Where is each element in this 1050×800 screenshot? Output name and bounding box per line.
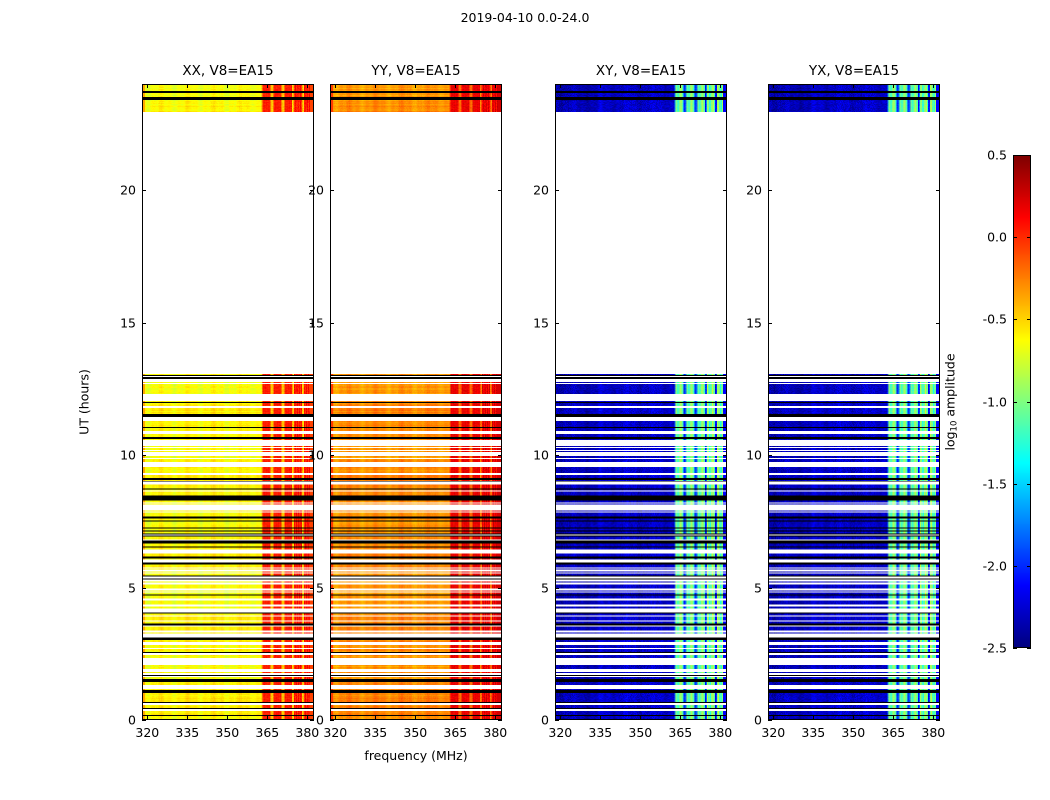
y-tick-right (936, 190, 940, 191)
x-tick-top (813, 84, 814, 88)
x-tick (375, 716, 376, 720)
colorbar-tick (1013, 237, 1017, 238)
colorbar-tick-right (1027, 484, 1031, 485)
x-tick-top (495, 84, 496, 88)
y-tick (142, 190, 146, 191)
x-tick (680, 716, 681, 720)
y-tick-label: 5 (523, 580, 549, 595)
x-tick-top (307, 84, 308, 88)
y-tick-label: 20 (523, 183, 549, 198)
waterfall-image-xy (556, 85, 726, 719)
y-tick-right (498, 455, 502, 456)
figure-canvas: 2019-04-10 0.0-24.0 XX, V8=EA15320335350… (0, 0, 1050, 800)
colorbar-tick (1013, 648, 1017, 649)
x-tick (455, 716, 456, 720)
x-tick (933, 716, 934, 720)
x-tick-label: 380 (483, 725, 507, 740)
y-tick (768, 588, 772, 589)
x-tick-top (893, 84, 894, 88)
colorbar-label-subscript: 10 (950, 420, 960, 431)
y-tick-label: 15 (110, 315, 136, 330)
x-tick-top (267, 84, 268, 88)
x-tick-top (720, 84, 721, 88)
y-tick-right (936, 455, 940, 456)
x-tick (415, 716, 416, 720)
plot-area-yy (330, 84, 502, 720)
colorbar-tick-right (1027, 155, 1031, 156)
x-tick-label: 335 (363, 725, 387, 740)
y-tick-right (723, 190, 727, 191)
y-tick-right (936, 588, 940, 589)
x-tick (893, 716, 894, 720)
colorbar-tick (1013, 155, 1017, 156)
x-tick-label: 320 (548, 725, 572, 740)
x-tick-top (455, 84, 456, 88)
colorbar-tick (1013, 402, 1017, 403)
x-tick-label: 365 (668, 725, 692, 740)
x-tick (600, 716, 601, 720)
colorbar-tick-label: -2.5 (965, 641, 1007, 656)
x-tick-top (640, 84, 641, 88)
colorbar-label-suffix: amplitude (943, 353, 958, 420)
y-tick-label: 0 (110, 713, 136, 728)
y-axis-label: UT (hours) (77, 369, 92, 435)
colorbar-tick (1013, 566, 1017, 567)
y-tick-right (936, 720, 940, 721)
x-tick (227, 716, 228, 720)
x-tick-top (375, 84, 376, 88)
y-tick-label: 0 (736, 713, 762, 728)
panel-title-yy: YY, V8=EA15 (330, 63, 502, 79)
plot-area-xy (555, 84, 727, 720)
y-tick (555, 588, 559, 589)
y-tick (768, 720, 772, 721)
x-tick (147, 716, 148, 720)
y-tick (142, 323, 146, 324)
y-tick-label: 5 (298, 580, 324, 595)
y-tick-label: 10 (110, 448, 136, 463)
x-tick-top (227, 84, 228, 88)
plot-area-yx (768, 84, 940, 720)
x-tick (267, 716, 268, 720)
y-tick-label: 10 (523, 448, 549, 463)
panel-xx: XX, V8=EA1532033535036538005101520 (142, 84, 314, 720)
y-tick (555, 190, 559, 191)
x-tick-top (560, 84, 561, 88)
y-tick (330, 323, 334, 324)
y-tick-label: 15 (523, 315, 549, 330)
y-tick (330, 720, 334, 721)
x-tick-label: 365 (255, 725, 279, 740)
colorbar-tick-right (1027, 648, 1031, 649)
y-tick-right (723, 588, 727, 589)
panel-title-yx: YX, V8=EA15 (768, 63, 940, 79)
colorbar-tick-right (1027, 237, 1031, 238)
x-tick-label: 335 (801, 725, 825, 740)
y-tick (330, 190, 334, 191)
y-tick (555, 455, 559, 456)
y-tick-label: 15 (736, 315, 762, 330)
x-tick (773, 716, 774, 720)
x-tick (560, 716, 561, 720)
figure-suptitle: 2019-04-10 0.0-24.0 (0, 10, 1050, 25)
x-tick-top (415, 84, 416, 88)
colorbar-tick-right (1027, 402, 1031, 403)
panel-yx: YX, V8=EA1532033535036538005101520 (768, 84, 940, 720)
y-tick-label: 20 (298, 183, 324, 198)
x-tick-label: 365 (881, 725, 905, 740)
x-tick-label: 335 (175, 725, 199, 740)
colorbar-tick-right (1027, 319, 1031, 320)
colorbar-tick-right (1027, 566, 1031, 567)
x-tick (720, 716, 721, 720)
y-tick-right (498, 323, 502, 324)
x-tick-label: 380 (708, 725, 732, 740)
x-tick-top (335, 84, 336, 88)
colorbar-tick-label: 0.0 (965, 230, 1007, 245)
x-tick (813, 716, 814, 720)
colorbar-label-prefix: log (943, 431, 958, 450)
x-tick-top (933, 84, 934, 88)
y-tick-right (936, 323, 940, 324)
x-tick (187, 716, 188, 720)
y-tick-label: 20 (736, 183, 762, 198)
x-axis-label: frequency (MHz) (364, 748, 467, 763)
x-tick-top (773, 84, 774, 88)
waterfall-image-xx (143, 85, 313, 719)
colorbar-tick-label: 0.5 (965, 148, 1007, 163)
y-tick-right (723, 455, 727, 456)
y-tick-label: 20 (110, 183, 136, 198)
x-tick-label: 380 (921, 725, 945, 740)
x-tick-label: 350 (841, 725, 865, 740)
colorbar-tick-label: -0.5 (965, 312, 1007, 327)
x-tick (640, 716, 641, 720)
colorbar-tick-label: -2.0 (965, 558, 1007, 573)
x-tick-top (680, 84, 681, 88)
x-tick-top (187, 84, 188, 88)
panel-yy: YY, V8=EA1532033535036538005101520 (330, 84, 502, 720)
x-tick-top (147, 84, 148, 88)
plot-area-xx (142, 84, 314, 720)
colorbar-label: log10 amplitude (943, 353, 960, 450)
colorbar-tick-label: -1.5 (965, 476, 1007, 491)
y-tick (555, 323, 559, 324)
x-tick-top (853, 84, 854, 88)
y-tick (142, 720, 146, 721)
y-tick-label: 10 (736, 448, 762, 463)
y-tick-label: 0 (523, 713, 549, 728)
y-tick (768, 455, 772, 456)
y-tick-right (723, 720, 727, 721)
y-tick-label: 15 (298, 315, 324, 330)
y-tick-right (498, 720, 502, 721)
waterfall-image-yx (769, 85, 939, 719)
y-tick-right (498, 588, 502, 589)
x-tick-top (600, 84, 601, 88)
y-tick (768, 190, 772, 191)
y-tick (768, 323, 772, 324)
y-tick (142, 588, 146, 589)
y-tick (142, 455, 146, 456)
y-tick-label: 5 (736, 580, 762, 595)
y-tick-label: 10 (298, 448, 324, 463)
y-tick-label: 0 (298, 713, 324, 728)
x-tick-label: 350 (215, 725, 239, 740)
colorbar-tick (1013, 484, 1017, 485)
y-tick-right (498, 190, 502, 191)
x-tick (495, 716, 496, 720)
x-tick-label: 320 (761, 725, 785, 740)
x-tick-label: 365 (443, 725, 467, 740)
x-tick-label: 320 (323, 725, 347, 740)
panel-title-xx: XX, V8=EA15 (142, 63, 314, 79)
x-tick-label: 350 (403, 725, 427, 740)
x-tick-label: 350 (628, 725, 652, 740)
waterfall-image-yy (331, 85, 501, 719)
y-tick-label: 5 (110, 580, 136, 595)
x-tick-label: 320 (135, 725, 159, 740)
y-tick (330, 588, 334, 589)
x-tick (853, 716, 854, 720)
x-tick-label: 335 (588, 725, 612, 740)
colorbar-tick-label: -1.0 (965, 394, 1007, 409)
y-tick-right (723, 323, 727, 324)
x-tick (335, 716, 336, 720)
panel-xy: XY, V8=EA1532033535036538005101520 (555, 84, 727, 720)
y-tick (330, 455, 334, 456)
panel-title-xy: XY, V8=EA15 (555, 63, 727, 79)
y-tick (555, 720, 559, 721)
colorbar-tick (1013, 319, 1017, 320)
